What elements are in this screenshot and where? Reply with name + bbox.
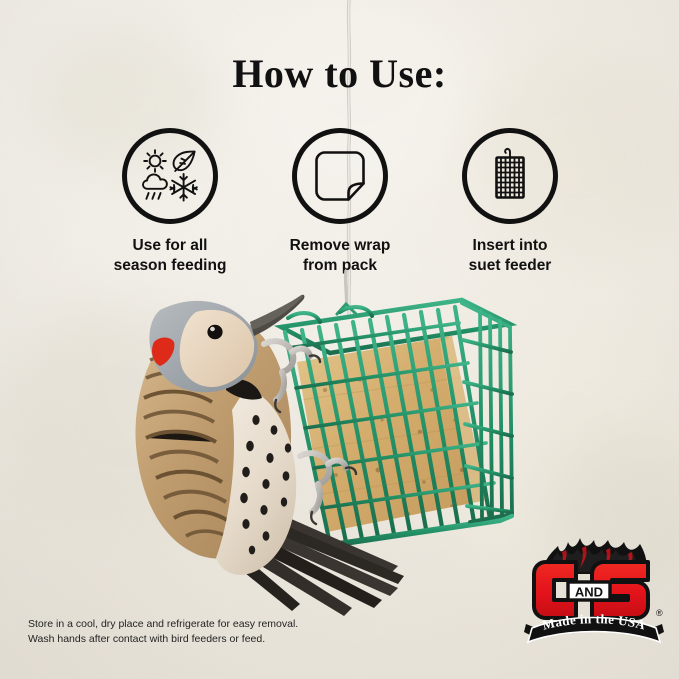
care-instructions: Store in a cool, dry place and refrigera… bbox=[28, 617, 298, 647]
step-remove-wrap-from-pack: Remove wrap from pack bbox=[265, 128, 415, 276]
snowflake-icon bbox=[170, 174, 196, 201]
bird-eye bbox=[207, 325, 222, 339]
registered-mark: ® bbox=[656, 608, 663, 618]
peel-wrap-icon bbox=[292, 128, 388, 224]
logo-and-text: AND bbox=[575, 585, 603, 600]
how-to-steps: Use for all season feeding Remove wrap f… bbox=[95, 128, 585, 276]
step-use-for-all-season-feeding: Use for all season feeding bbox=[95, 128, 245, 276]
rain-cloud-icon bbox=[143, 174, 167, 198]
page-title: How to Use: bbox=[0, 50, 679, 97]
step-insert-into-suet-feeder: Insert into suet feeder bbox=[435, 128, 585, 276]
four-seasons-icon bbox=[122, 128, 218, 224]
product-info-panel: How to Use: bbox=[0, 0, 679, 679]
sun-icon bbox=[144, 150, 166, 172]
leaf-icon bbox=[174, 152, 195, 171]
suet-feeder-cage-icon bbox=[462, 128, 558, 224]
logo-and-box: AND bbox=[568, 582, 610, 600]
wire-grid-cage bbox=[497, 158, 524, 198]
cs-brand-logo: AND ® Made in the USA bbox=[520, 532, 668, 654]
